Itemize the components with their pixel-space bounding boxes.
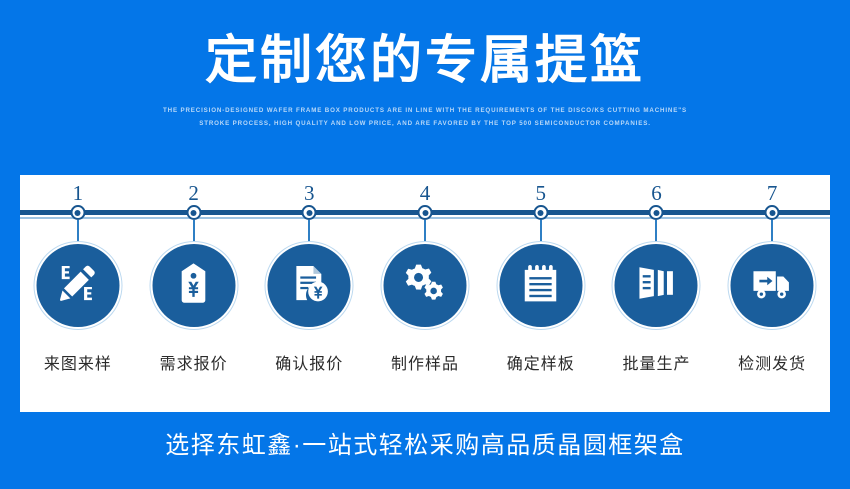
- step-number: 7: [767, 183, 778, 207]
- process-step[interactable]: 7 检测发货: [714, 175, 830, 412]
- step-number: 1: [73, 183, 84, 207]
- process-step[interactable]: 2 需求报价: [136, 175, 252, 412]
- timeline-connector: [308, 220, 310, 246]
- timeline-node: [302, 205, 317, 220]
- process-step[interactable]: 5 确定样板: [483, 175, 599, 412]
- step-label: 来图来样: [20, 350, 136, 374]
- timeline-connector: [193, 220, 195, 246]
- page-title: 定制您的专属提篮: [0, 34, 850, 90]
- step-label: 需求报价: [136, 350, 252, 374]
- step-label: 确认报价: [251, 350, 367, 374]
- timeline-connector: [424, 220, 426, 246]
- step-icon-circle[interactable]: [152, 244, 235, 327]
- footer-tagline: 选择东虹鑫·一站式轻松采购高品质晶圆框架盒: [0, 425, 850, 460]
- timeline-node: [533, 205, 548, 220]
- timeline-node: [70, 205, 85, 220]
- timeline-connector: [655, 220, 657, 246]
- timeline-connector: [77, 220, 79, 246]
- process-step[interactable]: 4 制作样品: [367, 175, 483, 412]
- header-banner: 定制您的专属提篮 THE PRECISION-DESIGNED WAFER FR…: [0, 0, 850, 130]
- process-step[interactable]: 3 确认报价: [251, 175, 367, 412]
- price-tag-yuan-icon: [173, 262, 215, 309]
- step-label: 确定样板: [483, 350, 599, 374]
- step-icon-circle[interactable]: [615, 244, 698, 327]
- step-number: 5: [535, 183, 546, 207]
- timeline-node: [418, 205, 433, 220]
- notepad-icon: [520, 262, 562, 309]
- process-panel: 1 来图来样 2: [20, 175, 830, 412]
- process-step[interactable]: 6 批量生产: [599, 175, 715, 412]
- step-icon-circle[interactable]: [268, 244, 351, 327]
- timeline-connector: [771, 220, 773, 246]
- step-icon-circle[interactable]: [499, 244, 582, 327]
- process-steps: 1 来图来样 2: [20, 175, 830, 412]
- step-label: 批量生产: [599, 350, 715, 374]
- timeline-node: [186, 205, 201, 220]
- step-number: 6: [651, 183, 662, 207]
- document-yuan-icon: [288, 262, 330, 309]
- header-subtitle: THE PRECISION-DESIGNED WAFER FRAME BOX P…: [153, 104, 698, 130]
- step-icon-circle[interactable]: [384, 244, 467, 327]
- gears-icon: [404, 262, 446, 309]
- step-icon-circle[interactable]: [36, 244, 119, 327]
- step-label: 制作样品: [367, 350, 483, 374]
- timeline-node: [649, 205, 664, 220]
- step-number: 3: [304, 183, 315, 207]
- timeline-connector: [540, 220, 542, 246]
- step-number: 2: [188, 183, 199, 207]
- pencil-design-icon: [57, 262, 99, 309]
- step-label: 检测发货: [714, 350, 830, 374]
- process-step[interactable]: 1 来图来样: [20, 175, 136, 412]
- delivery-truck-icon: [751, 262, 793, 309]
- production-boxes-icon: [635, 262, 677, 309]
- timeline-node: [765, 205, 780, 220]
- step-number: 4: [420, 183, 431, 207]
- step-icon-circle[interactable]: [731, 244, 814, 327]
